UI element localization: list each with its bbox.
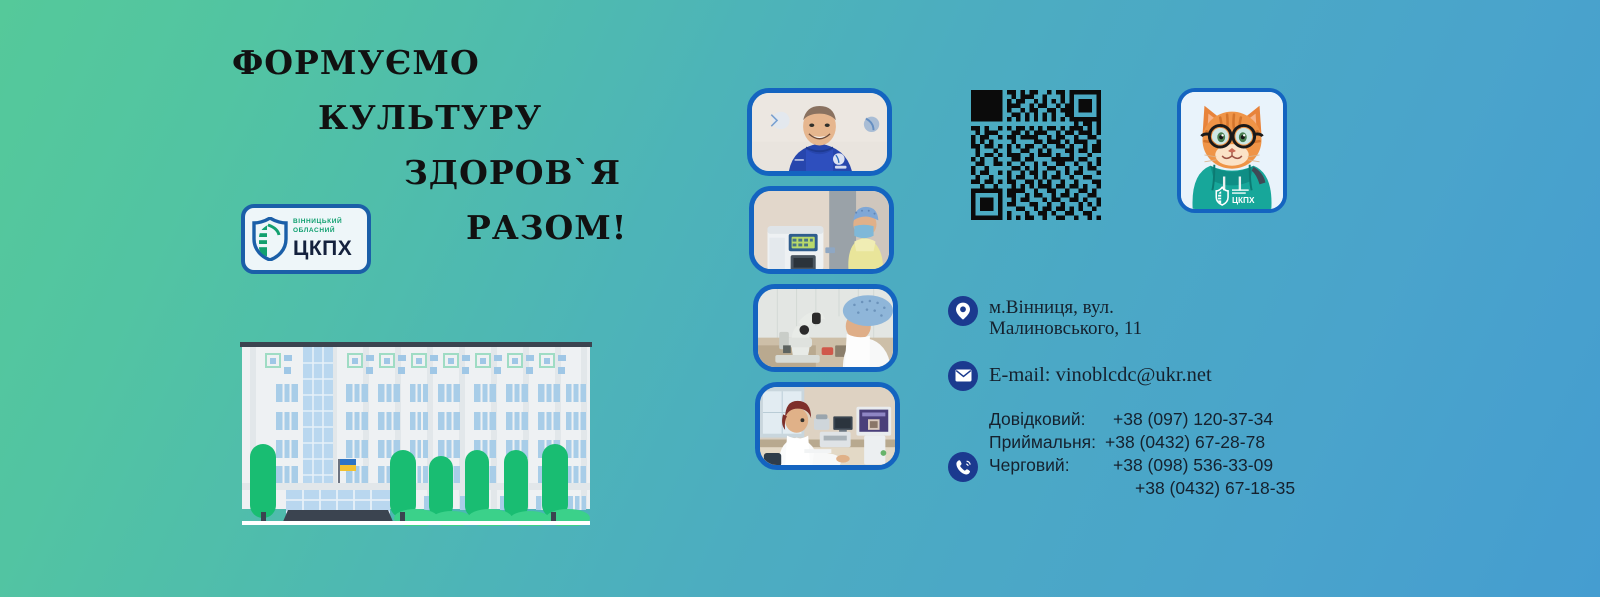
photo-smiling-man-blue-hoodie[interactable] (747, 88, 892, 176)
phone-label: Довідковий: (989, 408, 1105, 431)
address-line-2: Малиновського, 11 (989, 318, 1142, 339)
phone-row: Приймальня: +38 (0432) 67-28-78 (989, 431, 1295, 454)
phone-row: +38 (0432) 67-18-35 (989, 477, 1295, 500)
logo-text: ВІННИЦЬКИЙ ОБЛАСНИЙ ЦКПХ (293, 219, 352, 259)
building-illustration (238, 338, 594, 526)
contact-phones-row: Довідковий: +38 (097) 120-37-34 Приймаль… (948, 408, 1368, 501)
contact-address-text: м.Вінниця, вул. Малиновського, 11 (989, 296, 1142, 340)
phone-number[interactable]: +38 (0432) 67-18-35 (1105, 477, 1295, 500)
envelope-icon (948, 361, 978, 391)
ckph-logo-badge: ВІННИЦЬКИЙ ОБЛАСНИЙ ЦКПХ (241, 204, 371, 274)
phone-label: Черговий: (989, 454, 1105, 477)
map-pin-icon (948, 296, 978, 326)
phone-label: Приймальня: (989, 431, 1105, 454)
photo-microscope[interactable] (753, 284, 898, 372)
headline-line-3: ЗДОРОВ`Я (404, 156, 640, 189)
photo-strip (745, 88, 905, 488)
svg-text:ЦКПХ: ЦКПХ (1232, 196, 1255, 205)
logo-subtitle-line1: ВІННИЦЬКИЙ (293, 219, 352, 226)
contacts-block: м.Вінниця, вул. Малиновського, 11 E-mail… (948, 296, 1368, 501)
logo-subtitle-line2: ОБЛАСНИЙ (293, 228, 352, 235)
headline-line-1: ФОРМУЄМО (232, 46, 640, 79)
headline-line-2: КУЛЬТУРУ (318, 101, 640, 134)
logo-subtitle: ВІННИЦЬКИЙ ОБЛАСНИЙ (293, 219, 352, 236)
address-line-1: м.Вінниця, вул. (989, 297, 1142, 318)
headline-line-4: РАЗОМ! (466, 211, 640, 244)
cat-mascot: ЦКПХ (1177, 88, 1287, 213)
contact-email-text[interactable]: E-mail: vinoblcdc@ukr.net (989, 357, 1212, 387)
phone-number[interactable]: +38 (098) 536-33-09 (1105, 454, 1273, 477)
phone-icon (948, 452, 978, 482)
phone-list: Довідковий: +38 (097) 120-37-34 Приймаль… (989, 408, 1295, 501)
logo-title: ЦКПХ (293, 238, 352, 259)
contact-email-row[interactable]: E-mail: vinoblcdc@ukr.net (948, 357, 1368, 391)
photo-lab-analyzer[interactable] (749, 186, 894, 274)
contact-address-row: м.Вінниця, вул. Малиновського, 11 (948, 296, 1368, 340)
phone-number[interactable]: +38 (097) 120-37-34 (1105, 408, 1273, 431)
qr-code[interactable] (971, 90, 1101, 220)
phone-number[interactable]: +38 (0432) 67-28-78 (1105, 431, 1265, 454)
phone-row: Черговий: +38 (098) 536-33-09 (989, 454, 1295, 477)
photo-workstation[interactable] (755, 382, 900, 470)
shield-icon (252, 217, 288, 261)
phone-row: Довідковий: +38 (097) 120-37-34 (989, 408, 1295, 431)
promo-banner: ФОРМУЄМО КУЛЬТУРУ ЗДОРОВ`Я РАЗОМ! ВІННИЦ… (0, 0, 1600, 597)
